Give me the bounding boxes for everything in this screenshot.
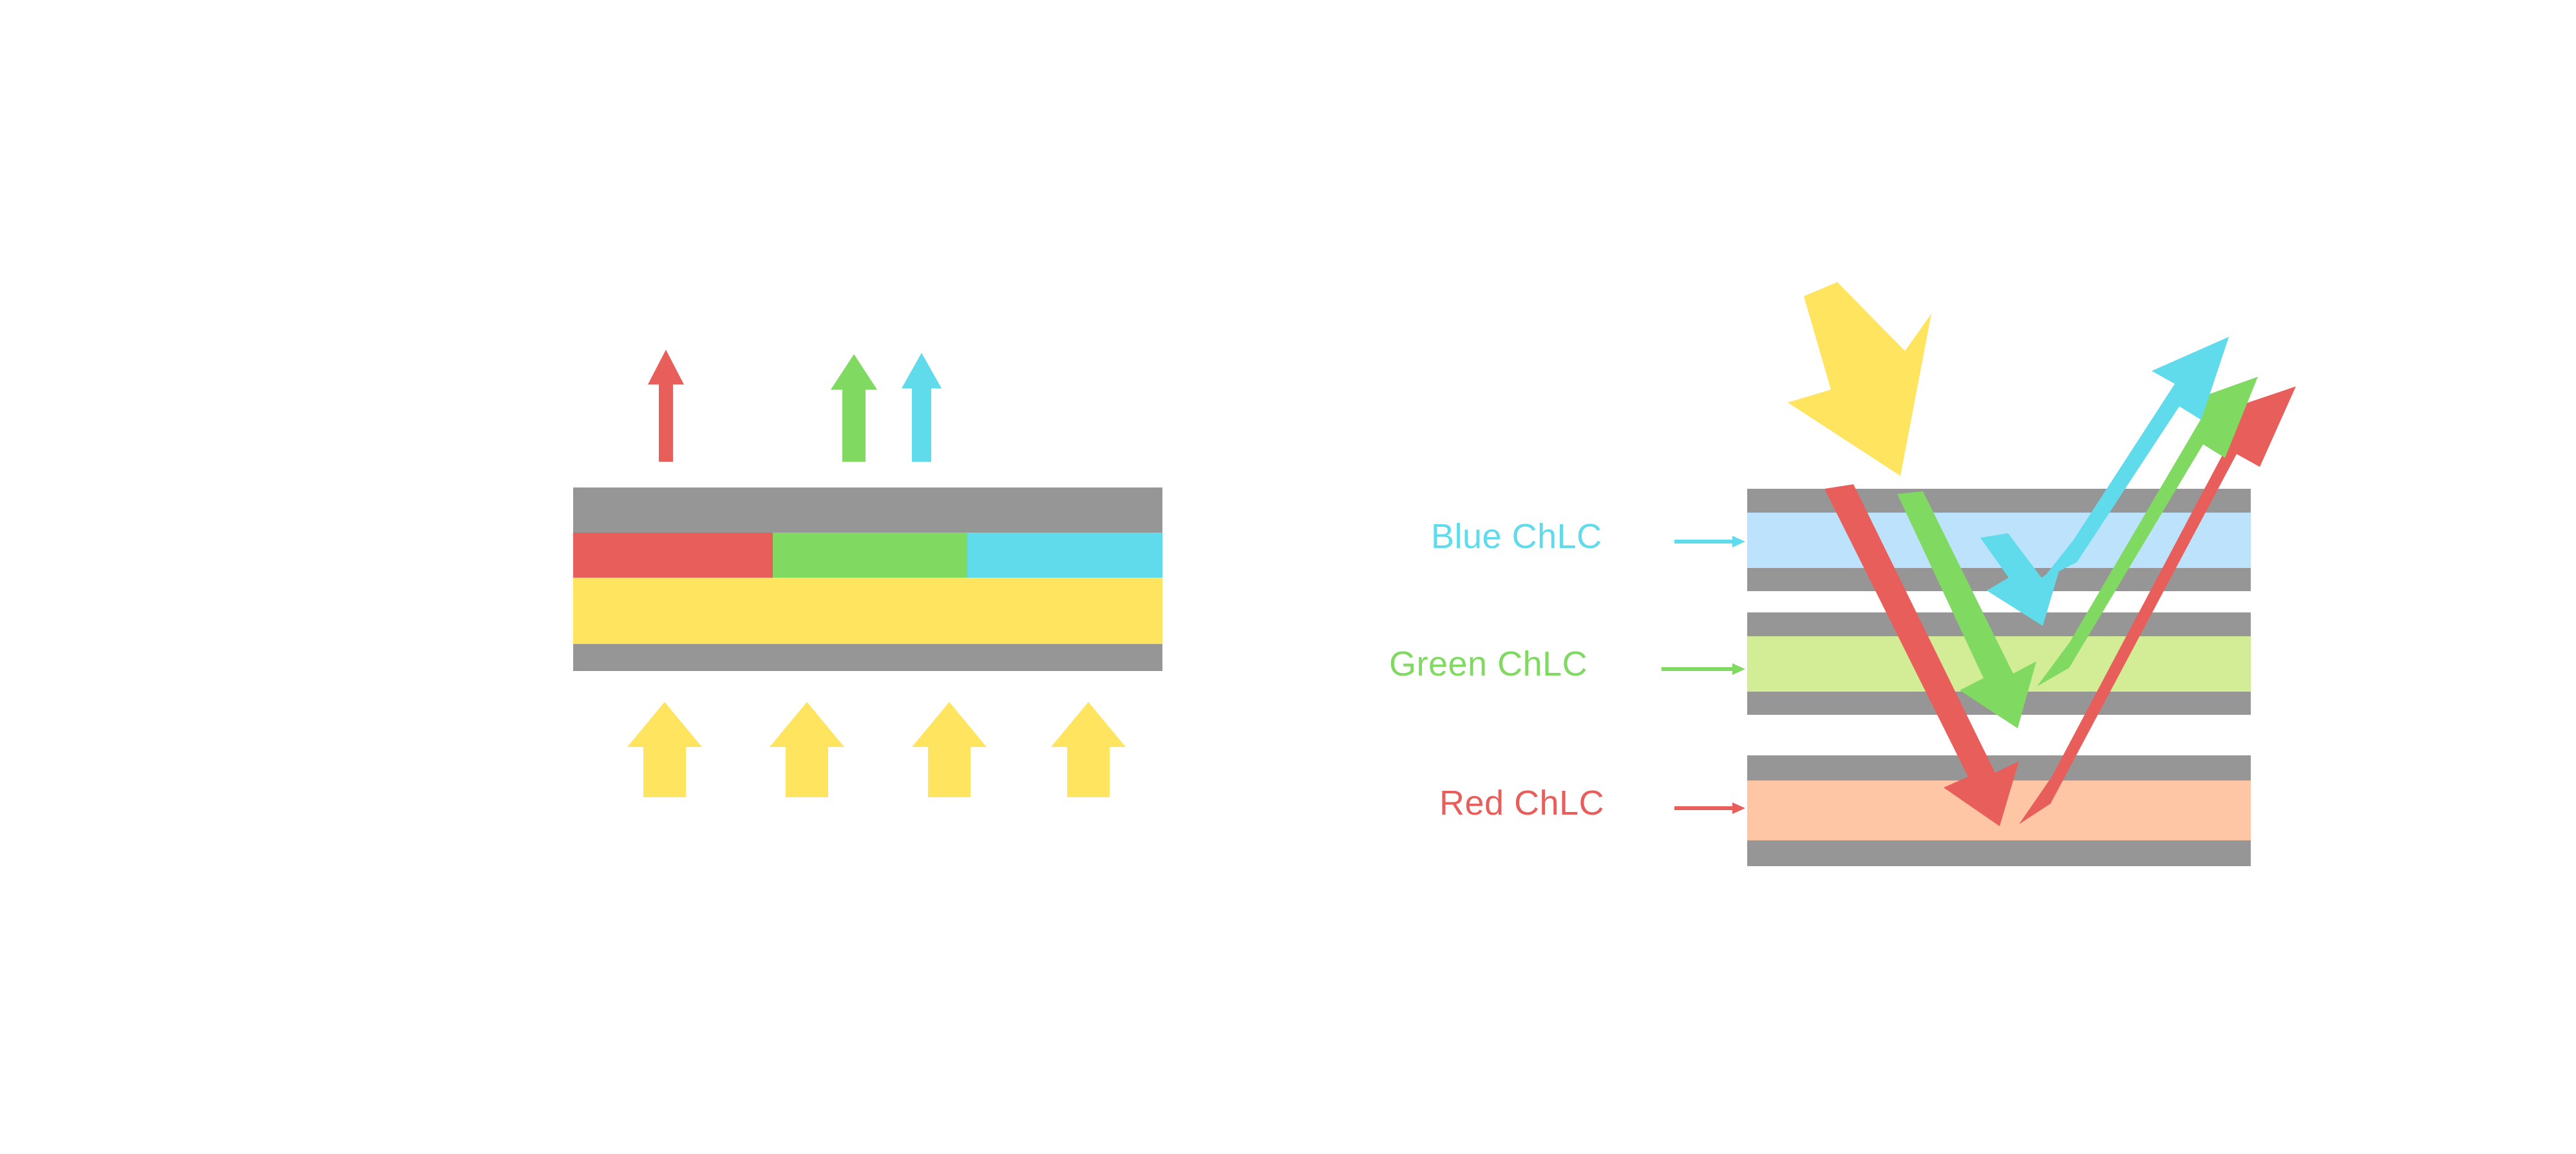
incident-white-light-arrow-icon: [1788, 282, 1931, 476]
label-leader-arrows: [1662, 536, 1745, 814]
blue-label-arrow-icon: [1674, 536, 1745, 547]
green-top-electrode: [1747, 612, 2251, 636]
green-chlc-label: Green ChLC: [1389, 647, 1587, 681]
diagram-canvas: Blue ChLC Green ChLC Red ChLC: [0, 0, 2576, 1154]
right-panel-graphics: [0, 0, 2576, 1154]
blue-top-electrode: [1747, 489, 2251, 513]
green-label-arrow-icon: [1662, 663, 1745, 675]
red-label-arrow-icon: [1674, 802, 1745, 814]
blue-chlc-label: Blue ChLC: [1431, 519, 1602, 554]
red-bottom-electrode: [1747, 840, 2251, 866]
red-chlc-label: Red ChLC: [1439, 786, 1604, 820]
